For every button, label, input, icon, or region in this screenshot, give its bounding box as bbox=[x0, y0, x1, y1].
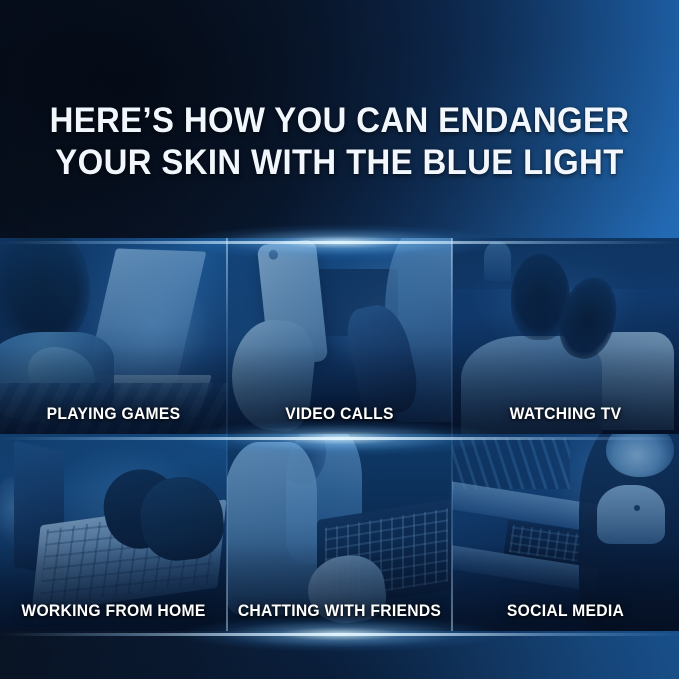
cell-label-working-from-home: WORKING FROM HOME bbox=[6, 602, 222, 621]
headline-line-1: HERE’S HOW YOU CAN ENDANGER bbox=[20, 100, 658, 142]
cell-label-video-calls: VIDEO CALLS bbox=[233, 405, 447, 424]
grid-cell-playing-games: PLAYING GAMES bbox=[0, 238, 227, 434]
cell-label-watching-tv: WATCHING TV bbox=[458, 405, 674, 424]
grid-cell-social-media: SOCIAL MEDIA bbox=[452, 434, 679, 631]
grid-cell-watching-tv: WATCHING TV bbox=[452, 238, 679, 434]
cell-label-chatting-with-friends: CHATTING WITH FRIENDS bbox=[233, 602, 447, 621]
grid-cell-working-from-home: WORKING FROM HOME bbox=[0, 434, 227, 631]
grid-cell-video-calls: VIDEO CALLS bbox=[227, 238, 452, 434]
headline-line-2: YOUR SKIN WITH THE BLUE LIGHT bbox=[20, 142, 658, 184]
page-title: HERE’S HOW YOU CAN ENDANGER YOUR SKIN WI… bbox=[20, 100, 658, 184]
activity-grid: PLAYING GAMES VIDEO CALLS bbox=[0, 238, 679, 631]
cell-label-playing-games: PLAYING GAMES bbox=[6, 405, 222, 424]
cell-label-social-media: SOCIAL MEDIA bbox=[458, 602, 674, 621]
grid-cell-chatting-with-friends: CHATTING WITH FRIENDS bbox=[227, 434, 452, 631]
poster-canvas: HERE’S HOW YOU CAN ENDANGER YOUR SKIN WI… bbox=[0, 0, 679, 679]
